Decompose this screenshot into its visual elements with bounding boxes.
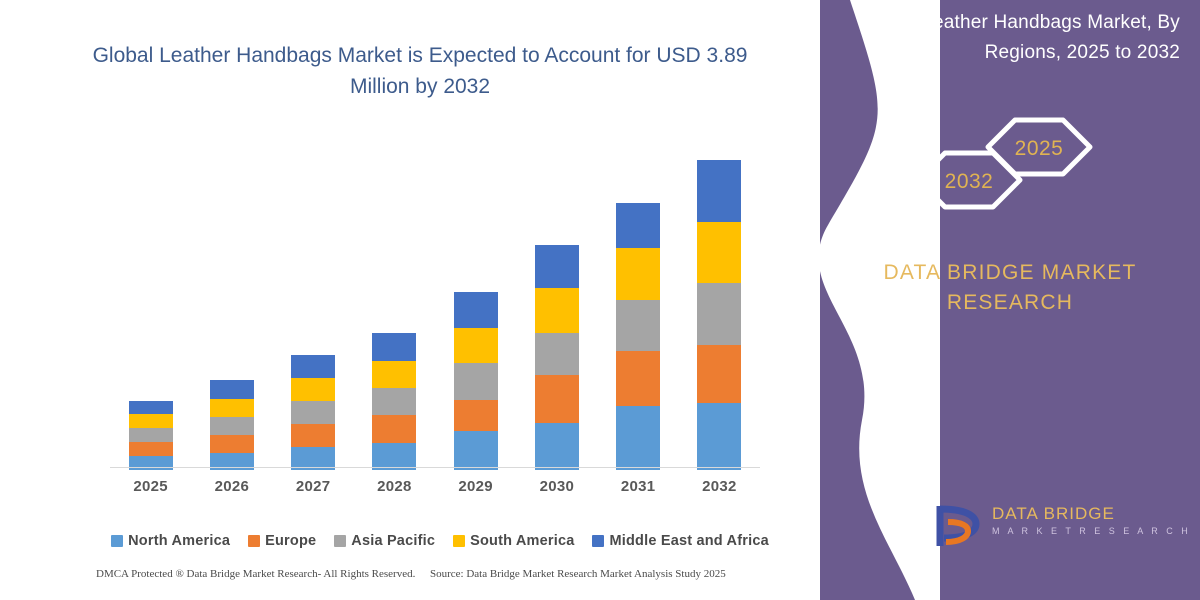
page-title: Global Leather Handbags Market is Expect…	[60, 40, 780, 102]
legend-swatch	[592, 535, 604, 547]
footer-copyright: DMCA Protected ® Data Bridge Market Rese…	[96, 568, 415, 580]
bar-segment	[616, 406, 660, 470]
bar-segment	[129, 414, 173, 428]
x-axis-line	[110, 467, 760, 468]
x-axis-label: 2030	[517, 478, 597, 495]
brand-line-1: DATA BRIDGE MARKET	[820, 258, 1200, 288]
legend-swatch	[248, 535, 260, 547]
bar-column	[129, 401, 173, 470]
stacked-bar-chart	[110, 140, 760, 470]
bar-column	[372, 333, 416, 470]
bar-segment	[697, 160, 741, 222]
bar-segment	[535, 333, 579, 375]
legend-label: South America	[470, 533, 574, 549]
bar-column	[616, 203, 660, 470]
data-bridge-logo-icon	[932, 500, 984, 552]
bar-segment	[454, 328, 498, 363]
hexagon-2025-label: 2025	[1015, 137, 1064, 160]
hexagon-2032-label: 2032	[945, 170, 994, 193]
bar-segment	[697, 283, 741, 345]
bar-segment	[454, 431, 498, 470]
legend-swatch	[453, 535, 465, 547]
x-axis-label: 2032	[679, 478, 759, 495]
x-axis-label: 2028	[354, 478, 434, 495]
bar-segment	[372, 415, 416, 443]
bar-segment	[616, 300, 660, 351]
legend-swatch	[111, 535, 123, 547]
bar-segment	[129, 401, 173, 414]
legend-label: Europe	[265, 533, 316, 549]
bar-segment	[210, 380, 254, 399]
chart-legend: North AmericaEuropeAsia PacificSouth Ame…	[110, 530, 770, 552]
legend-item[interactable]: Europe	[248, 533, 316, 549]
bar-segment	[372, 443, 416, 470]
bar-segment	[291, 378, 335, 401]
bar-column	[535, 245, 579, 470]
x-axis-label: 2029	[436, 478, 516, 495]
bar-segment	[535, 375, 579, 423]
bar-segment	[454, 292, 498, 328]
footer: DMCA Protected ® Data Bridge Market Rese…	[0, 568, 800, 588]
bar-segment	[616, 351, 660, 406]
x-axis-labels: 20252026202720282029203020312032	[110, 478, 760, 502]
bar-segment	[129, 428, 173, 442]
bar-segment	[697, 345, 741, 403]
panel-title: Global Leather Handbags Market, By Regio…	[850, 8, 1180, 68]
legend-label: Asia Pacific	[351, 533, 435, 549]
x-axis-label: 2031	[598, 478, 678, 495]
infographic-root: Global Leather Handbags Market is Expect…	[0, 0, 1200, 600]
bar-segment	[535, 288, 579, 333]
brand-panel: Global Leather Handbags Market, By Regio…	[820, 0, 1200, 600]
bar-column	[697, 160, 741, 470]
bar-segment	[535, 423, 579, 470]
logo-text-secondary: M A R K E T R E S E A R C H	[992, 526, 1191, 536]
x-axis-label: 2025	[111, 478, 191, 495]
bar-segment	[291, 355, 335, 378]
legend-label: North America	[128, 533, 230, 549]
x-axis-label: 2027	[273, 478, 353, 495]
bar-segment	[535, 245, 579, 288]
bar-segment	[454, 400, 498, 431]
bar-column	[210, 380, 254, 470]
bar-segment	[129, 442, 173, 456]
bar-segment	[697, 403, 741, 470]
year-hexagons: 2032 2025	[900, 105, 1160, 230]
legend-item[interactable]: North America	[111, 533, 230, 549]
legend-swatch	[334, 535, 346, 547]
x-axis-label: 2026	[192, 478, 272, 495]
bar-segment	[291, 401, 335, 424]
bar-segment	[454, 363, 498, 400]
bar-segment	[616, 203, 660, 248]
legend-item[interactable]: South America	[453, 533, 574, 549]
footer-source: Source: Data Bridge Market Research Mark…	[430, 568, 726, 580]
bar-segment	[372, 333, 416, 361]
legend-item[interactable]: Middle East and Africa	[592, 533, 768, 549]
bar-column	[291, 355, 335, 470]
bar-segment	[291, 424, 335, 447]
legend-item[interactable]: Asia Pacific	[334, 533, 435, 549]
bar-segment	[697, 222, 741, 283]
logo-block: DATA BRIDGE M A R K E T R E S E A R C H	[820, 500, 1200, 560]
logo-text-primary: DATA BRIDGE	[992, 504, 1115, 524]
bar-segment	[210, 435, 254, 453]
bar-segment	[372, 361, 416, 388]
bar-segment	[372, 388, 416, 415]
legend-label: Middle East and Africa	[609, 533, 768, 549]
bar-segment	[210, 417, 254, 435]
bar-segment	[210, 399, 254, 417]
bar-column	[454, 292, 498, 470]
bar-segment	[616, 248, 660, 300]
brand-name: DATA BRIDGE MARKET RESEARCH	[820, 258, 1200, 318]
brand-line-2: RESEARCH	[820, 288, 1200, 318]
